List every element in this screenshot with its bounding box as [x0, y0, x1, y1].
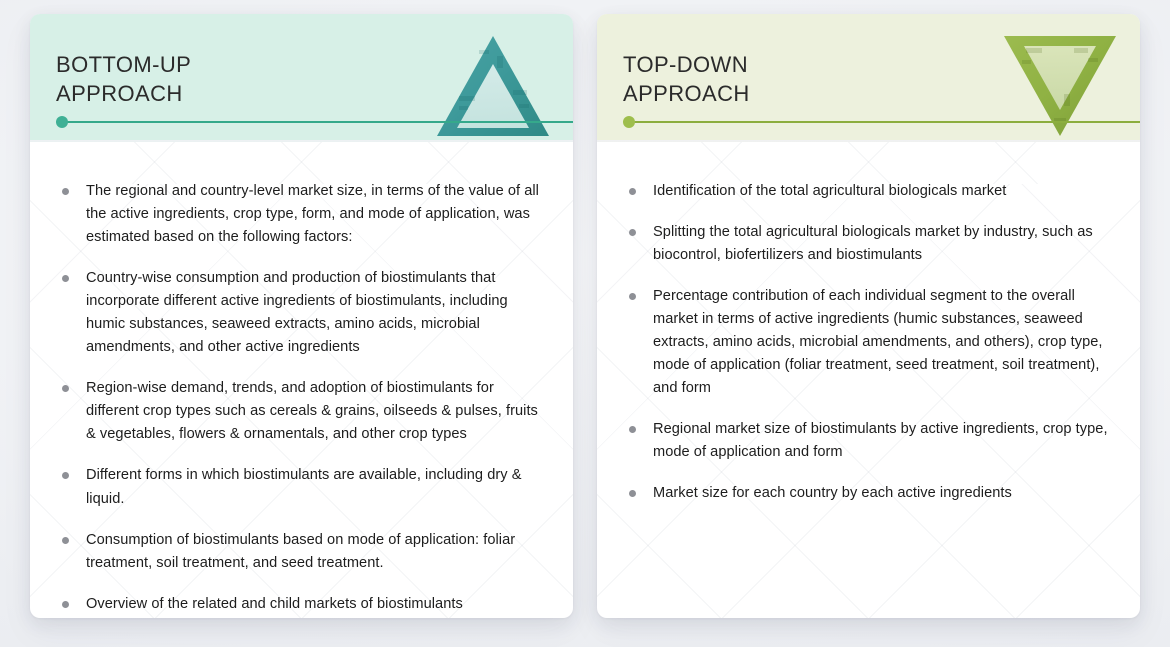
list-item-text: Different forms in which biostimulants a… — [86, 467, 522, 506]
page-root: BOTTOM-UP APPROACH — [0, 0, 1170, 647]
bullet-icon — [62, 472, 69, 479]
list-item-text: Splitting the total agricultural biologi… — [653, 224, 1093, 263]
list-item: Overview of the related and child market… — [58, 593, 545, 616]
list-item-text: The regional and country-level market si… — [86, 183, 539, 245]
list-item: Percentage contribution of each individu… — [625, 285, 1112, 400]
bullet-list-top-down: Identification of the total agricultural… — [625, 180, 1112, 506]
panel-header-top-down: TOP-DOWN APPROACH — [597, 14, 1140, 142]
list-item-text: Region-wise demand, trends, and adoption… — [86, 380, 538, 442]
list-item-text: Market size for each country by each act… — [653, 485, 1012, 501]
accent-dot — [623, 116, 635, 128]
accent-line-bottom-up — [56, 116, 573, 128]
header-fade — [30, 140, 573, 142]
bullet-icon — [629, 293, 636, 300]
panel-title-bottom-up: BOTTOM-UP APPROACH — [56, 50, 191, 109]
list-item: Country-wise consumption and production … — [58, 267, 545, 359]
accent-bar — [630, 121, 1140, 123]
bullet-icon — [62, 601, 69, 608]
list-item-text: Country-wise consumption and production … — [86, 270, 508, 355]
list-item: Splitting the total agricultural biologi… — [625, 221, 1112, 267]
panel-body-bottom-up: The regional and country-level market si… — [30, 142, 573, 618]
list-item-text: Identification of the total agricultural… — [653, 183, 1006, 199]
bullet-icon — [629, 188, 636, 195]
panel-body-top-down: Identification of the total agricultural… — [597, 142, 1140, 618]
list-item-text: Overview of the related and child market… — [86, 596, 463, 612]
panel-top-down: TOP-DOWN APPROACH — [597, 14, 1140, 618]
list-item-text: Percentage contribution of each individu… — [653, 288, 1103, 396]
list-item: Market size for each country by each act… — [625, 482, 1112, 505]
list-item: Region-wise demand, trends, and adoption… — [58, 377, 545, 446]
accent-bar — [63, 121, 573, 123]
panel-title-top-down: TOP-DOWN APPROACH — [623, 50, 750, 109]
approach-panels: BOTTOM-UP APPROACH — [30, 14, 1140, 618]
list-item: Different forms in which biostimulants a… — [58, 464, 545, 510]
list-item: The regional and country-level market si… — [58, 180, 545, 249]
bullet-icon — [629, 490, 636, 497]
bullet-icon — [62, 385, 69, 392]
list-item: Regional market size of biostimulants by… — [625, 418, 1112, 464]
list-item-text: Consumption of biostimulants based on mo… — [86, 532, 515, 571]
header-fade — [597, 140, 1140, 142]
bullet-icon — [62, 275, 69, 282]
panel-bottom-up: BOTTOM-UP APPROACH — [30, 14, 573, 618]
list-item-text: Regional market size of biostimulants by… — [653, 421, 1108, 460]
bullet-icon — [629, 426, 636, 433]
bullet-icon — [62, 537, 69, 544]
accent-line-top-down — [623, 116, 1140, 128]
bullet-list-bottom-up: The regional and country-level market si… — [58, 180, 545, 616]
list-item: Identification of the total agricultural… — [625, 180, 1112, 203]
accent-dot — [56, 116, 68, 128]
panel-header-bottom-up: BOTTOM-UP APPROACH — [30, 14, 573, 142]
list-item: Consumption of biostimulants based on mo… — [58, 529, 545, 575]
bullet-icon — [629, 229, 636, 236]
bullet-icon — [62, 188, 69, 195]
